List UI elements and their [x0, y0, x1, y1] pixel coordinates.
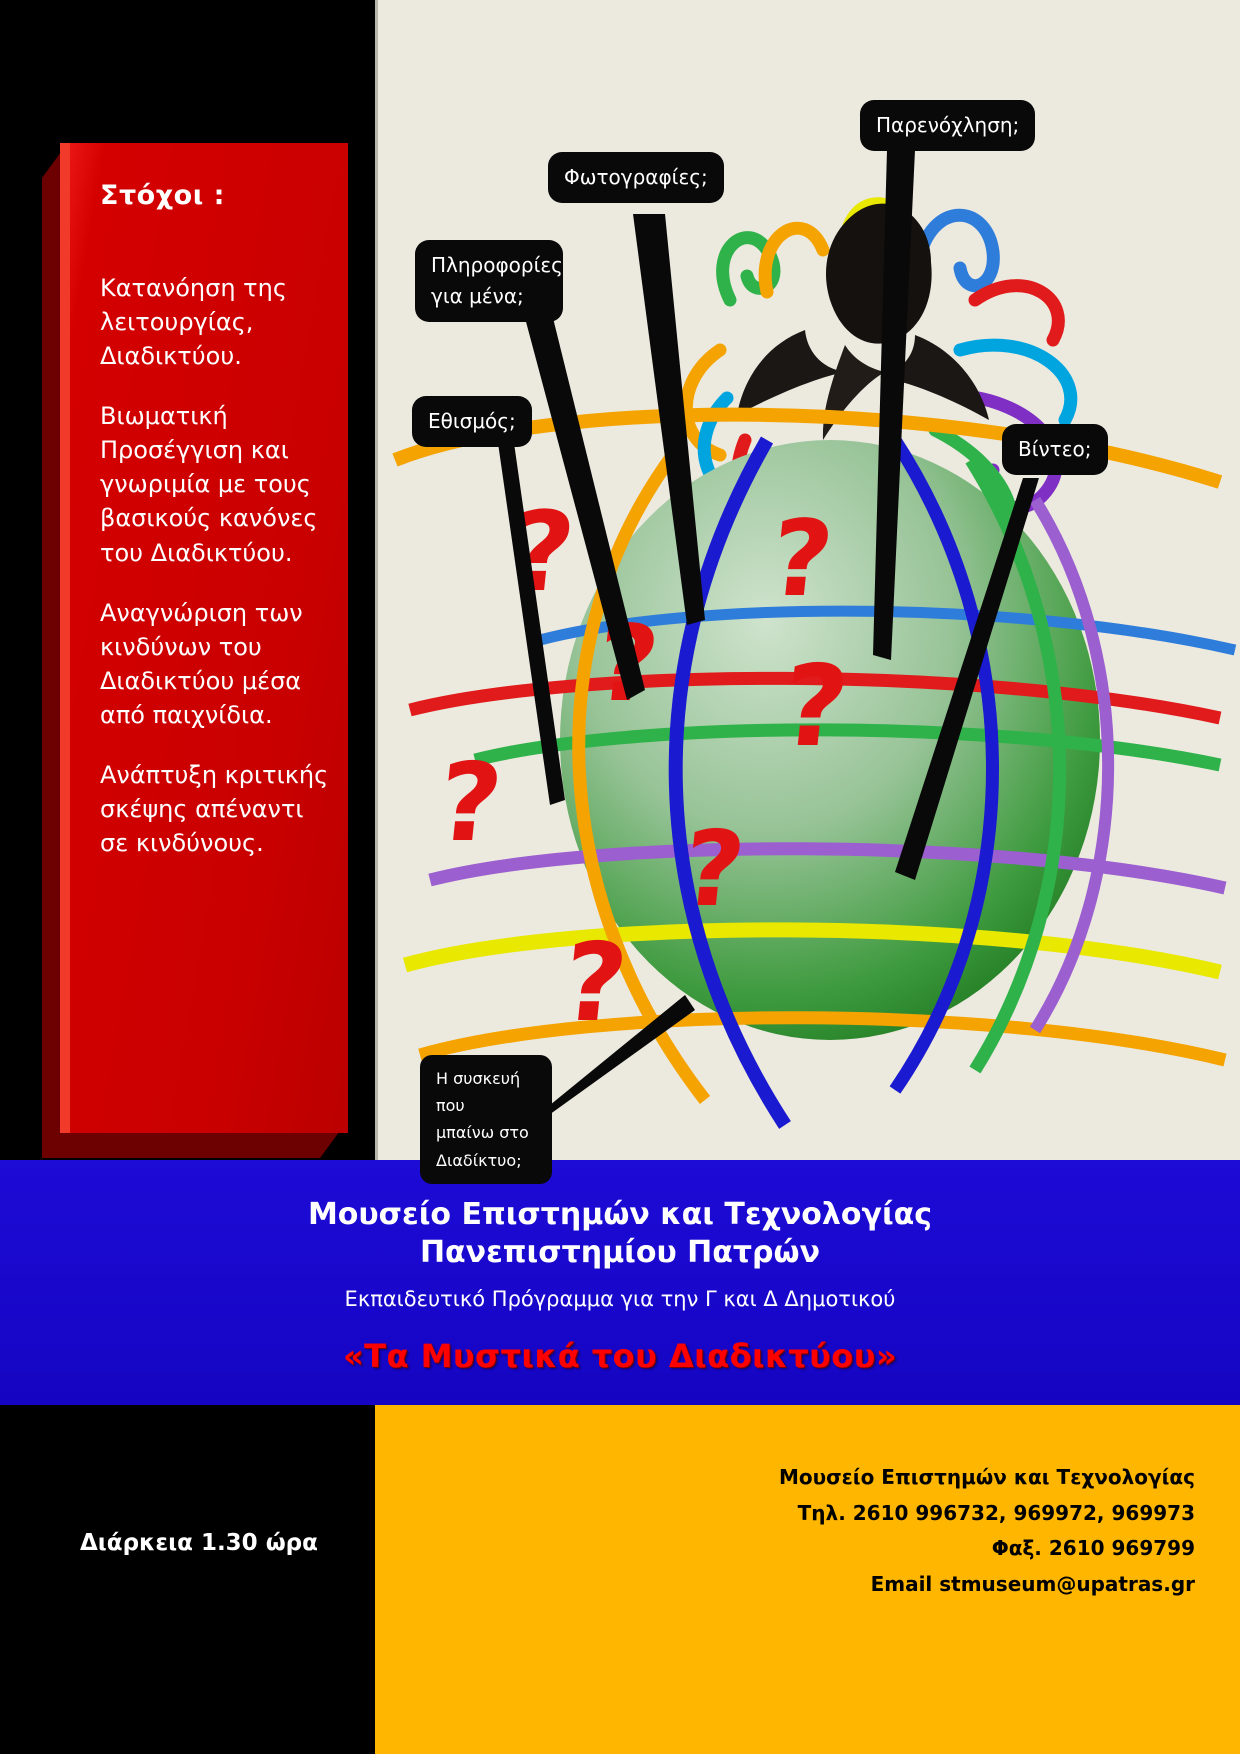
svg-text:?: ? [776, 642, 855, 772]
bubble-info: Πληροφορίες για μένα; [415, 240, 563, 322]
bubble-video: Βίντεο; [1002, 424, 1108, 475]
poster-root: ? ? ? ? ? ? ? Στόχοι : Κατανόηση της [0, 0, 1240, 1754]
globe-illustration: ? ? ? ? ? ? ? [375, 0, 1240, 1160]
bubble-addiction: Εθισμός; [412, 396, 532, 447]
objective-item: Βιωματική Προσέγγιση και γνωριμία με του… [100, 399, 330, 569]
bubble-photos: Φωτογραφίες; [548, 152, 724, 203]
objectives-panel-highlight [60, 143, 70, 1133]
objective-item: Αναγνώριση των κινδύνων του Διαδικτύου μ… [100, 596, 330, 732]
objective-item: Κατανόηση της λειτουργίας, Διαδικτύου. [100, 271, 330, 373]
bubble-harassment: Παρενόχληση; [860, 100, 1035, 151]
svg-text:?: ? [765, 497, 839, 620]
footer-band: Μουσείο Επιστημών και Τεχνολογίας Πανεπι… [0, 1160, 1240, 1405]
duration-label: Διάρκεια 1.30 ώρα [80, 1530, 318, 1556]
bubble-device: Η συσκευή που μπαίνω στο Διαδίκτυο; [420, 1055, 552, 1184]
contact-line: Φαξ. 2610 969799 [375, 1531, 1195, 1567]
svg-text:?: ? [677, 808, 750, 930]
objectives-content: Στόχοι : Κατανόηση της λειτουργίας, Διαδ… [100, 180, 330, 1110]
svg-text:?: ? [432, 739, 508, 866]
organisation-line-2: Πανεπιστημίου Πατρών [0, 1234, 1240, 1272]
organisation-line-1: Μουσείο Επιστημών και Τεχνολογίας [0, 1196, 1240, 1234]
contact-line: Τηλ. 2610 996732, 969972, 969973 [375, 1496, 1195, 1532]
duration-panel: Διάρκεια 1.30 ώρα [0, 1405, 375, 1754]
svg-text:?: ? [557, 919, 633, 1046]
contact-line: Μουσείο Επιστημών και Τεχνολογίας [375, 1460, 1195, 1496]
contact-panel: Μουσείο Επιστημών και Τεχνολογίας Τηλ. 2… [375, 1405, 1240, 1754]
contact-email: Email stmuseum@upatras.gr [375, 1567, 1195, 1603]
objective-item: Ανάπτυξη κριτικής σκέψης απέναντι σε κιν… [100, 758, 330, 860]
globe-svg: ? ? ? ? ? ? ? [375, 0, 1240, 1160]
objectives-heading: Στόχοι : [100, 180, 330, 211]
program-title: «Τα Μυστικά του Διαδικτύου» [0, 1337, 1240, 1375]
bottom-row: Διάρκεια 1.30 ώρα Μουσείο Επιστημών και … [0, 1405, 1240, 1754]
program-subtitle: Εκπαιδευτικό Πρόγραμμα για την Γ και Δ Δ… [0, 1287, 1240, 1311]
